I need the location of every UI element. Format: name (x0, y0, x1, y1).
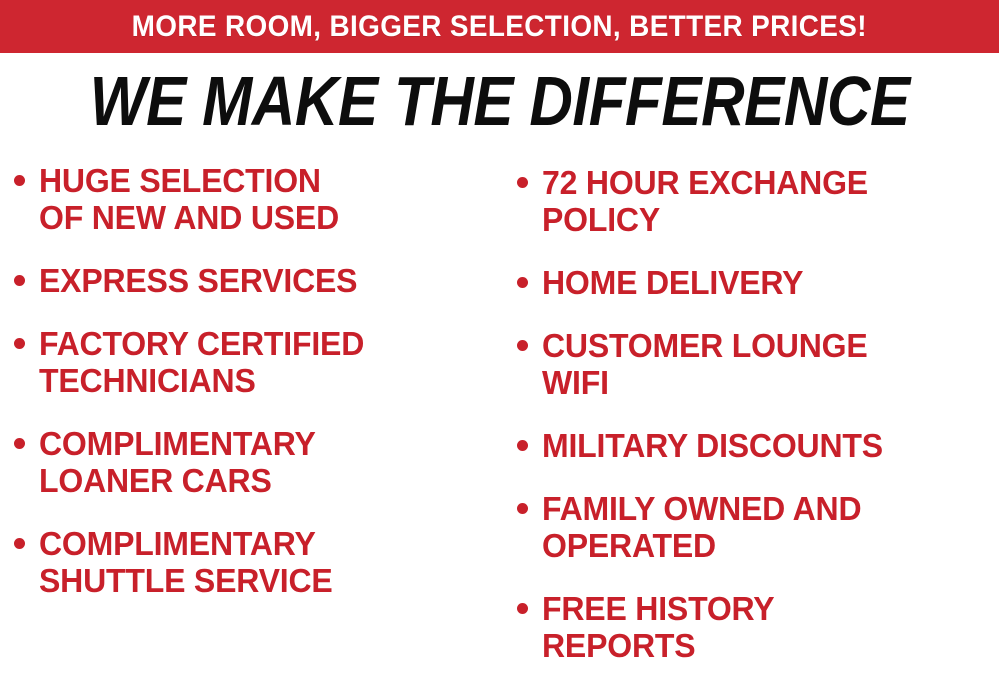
bullet-dot-icon (517, 277, 528, 288)
page-title: WE MAKE THE DIFFERENCE (90, 65, 910, 137)
list-item: FREE HISTORY REPORTS (517, 590, 999, 664)
promotional-banner: MORE ROOM, BIGGER SELECTION, BETTER PRIC… (0, 0, 999, 692)
feature-column-left: HUGE SELECTION OF NEW AND USED EXPRESS S… (0, 155, 505, 692)
list-item: MILITARY DISCOUNTS (517, 427, 999, 464)
list-item: FAMILY OWNED AND OPERATED (517, 490, 999, 564)
list-item-label: FREE HISTORY REPORTS (542, 590, 985, 664)
feature-columns: HUGE SELECTION OF NEW AND USED EXPRESS S… (0, 155, 999, 692)
bullet-dot-icon (517, 340, 528, 351)
list-item-label: FACTORY CERTIFIED TECHNICIANS (39, 325, 491, 399)
ribbon-banner: MORE ROOM, BIGGER SELECTION, BETTER PRIC… (0, 0, 999, 53)
bullet-dot-icon (14, 438, 25, 449)
list-item-label: COMPLIMENTARY LOANER CARS (39, 425, 491, 499)
list-item: COMPLIMENTARY LOANER CARS (14, 425, 505, 499)
headline-container: WE MAKE THE DIFFERENCE (0, 61, 999, 141)
bullet-dot-icon (14, 338, 25, 349)
list-item-label: CUSTOMER LOUNGE WIFI (542, 327, 985, 401)
list-item: FACTORY CERTIFIED TECHNICIANS (14, 325, 505, 399)
list-item: COMPLIMENTARY SHUTTLE SERVICE (14, 525, 505, 599)
bullet-dot-icon (517, 503, 528, 514)
feature-column-right: 72 HOUR EXCHANGE POLICY HOME DELIVERY CU… (505, 155, 999, 692)
bullet-dot-icon (14, 275, 25, 286)
list-item-label: MILITARY DISCOUNTS (542, 427, 985, 464)
list-item: HUGE SELECTION OF NEW AND USED (14, 162, 505, 236)
list-item: 72 HOUR EXCHANGE POLICY (517, 164, 999, 238)
list-item: CUSTOMER LOUNGE WIFI (517, 327, 999, 401)
bullet-dot-icon (14, 175, 25, 186)
bullet-dot-icon (517, 177, 528, 188)
bullet-dot-icon (517, 440, 528, 451)
list-item-label: 72 HOUR EXCHANGE POLICY (542, 164, 985, 238)
list-item: EXPRESS SERVICES (14, 262, 505, 299)
list-item-label: COMPLIMENTARY SHUTTLE SERVICE (39, 525, 491, 599)
list-item-label: EXPRESS SERVICES (39, 262, 491, 299)
bullet-dot-icon (14, 538, 25, 549)
list-item-label: HUGE SELECTION OF NEW AND USED (39, 162, 491, 236)
list-item-label: FAMILY OWNED AND OPERATED (542, 490, 985, 564)
bullet-dot-icon (517, 603, 528, 614)
list-item: HOME DELIVERY (517, 264, 999, 301)
ribbon-headline-text: MORE ROOM, BIGGER SELECTION, BETTER PRIC… (132, 11, 867, 43)
list-item-label: HOME DELIVERY (542, 264, 985, 301)
